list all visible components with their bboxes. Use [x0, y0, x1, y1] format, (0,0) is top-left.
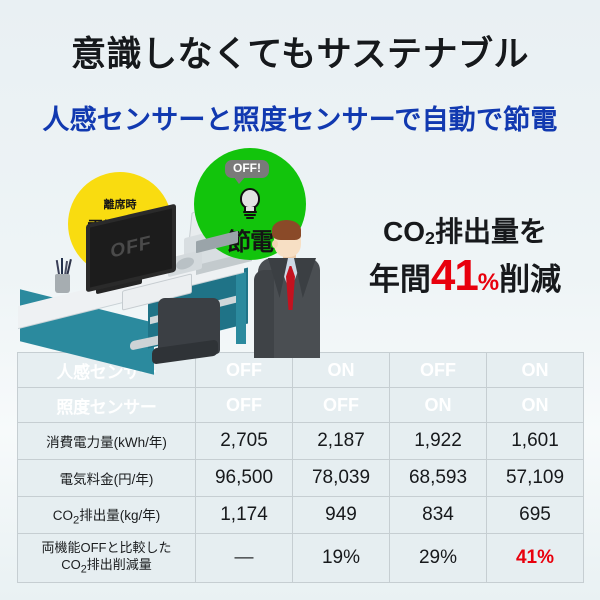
co2-callout-line2-post: 削減 — [499, 262, 561, 297]
cell-power-consumption-3: 1,922 — [390, 423, 487, 460]
infographic-page: 意識しなくてもサステナブル 人感センサーと照度センサーで自動で節電 CO2排出量… — [0, 0, 600, 600]
co2-callout-line2: 年間41%削減 — [340, 251, 590, 300]
row-label-illuminance-sensor: 照度センサー — [18, 388, 196, 423]
cell-electricity-cost-1: 96,500 — [196, 460, 293, 497]
cell-illuminance-sensor-2: OFF — [293, 388, 390, 423]
co2-callout-line1-post: 排出量を — [435, 216, 547, 247]
cell-co2-reduction-2: 19% — [293, 534, 390, 583]
co2-callout: CO2排出量を 年間41%削減 — [340, 216, 590, 301]
cell-co2-reduction-4: 41% — [487, 534, 584, 583]
cell-co2-emissions-1: 1,174 — [196, 497, 293, 534]
desk-leg — [236, 272, 246, 344]
co2-callout-percent-sign: % — [478, 269, 499, 296]
row-label-co2-reduction: 両機能OFFと比較した CO2排出削減量 — [18, 534, 196, 583]
cell-co2-emissions-3: 834 — [390, 497, 487, 534]
office-illustration: OFF 離席時 電源オフ OFF! — [0, 130, 360, 358]
cell-co2-reduction-1: — — [196, 534, 293, 583]
cell-illuminance-sensor-3: ON — [390, 388, 487, 423]
lightbulb-icon — [238, 188, 262, 221]
co2-callout-number: 41 — [431, 251, 478, 300]
cell-electricity-cost-2: 78,039 — [293, 460, 390, 497]
table-row-co2-reduction: 両機能OFFと比較した CO2排出削減量 — 19% 29% 41% — [18, 534, 584, 583]
person-arm — [254, 270, 274, 358]
co2-callout-line1-pre: CO — [383, 216, 425, 247]
cell-co2-emissions-2: 949 — [293, 497, 390, 534]
monitor-screen-text: OFF — [90, 228, 172, 269]
cell-power-consumption-4: 1,601 — [487, 423, 584, 460]
row-label-co2-emissions-pre: CO — [53, 508, 73, 523]
row-label-co2-emissions-post: 排出量(kg/年) — [79, 508, 160, 523]
row-label-co2-reduction-line1: 両機能OFFと比較した — [42, 540, 172, 555]
page-title: 意識しなくてもサステナブル — [0, 26, 600, 77]
cell-co2-emissions-4: 695 — [487, 497, 584, 534]
row-label-power-consumption: 消費電力量(kWh/年) — [18, 423, 196, 460]
table-row-co2-emissions: CO2排出量(kg/年) 1,174 949 834 695 — [18, 497, 584, 534]
cell-human-sensor-3: OFF — [390, 353, 487, 388]
row-label-electricity-cost: 電気料金(円/年) — [18, 460, 196, 497]
table-row-electricity-cost: 電気料金(円/年) 96,500 78,039 68,593 57,109 — [18, 460, 584, 497]
co2-callout-line1-subscript: 2 — [425, 228, 435, 248]
person-hair — [272, 220, 301, 240]
row-label-co2-reduction-pre: CO — [61, 557, 81, 572]
co2-callout-line2-pre: 年間 — [369, 262, 431, 297]
cell-illuminance-sensor-4: ON — [487, 388, 584, 423]
cell-electricity-cost-4: 57,109 — [487, 460, 584, 497]
cell-illuminance-sensor-1: OFF — [196, 388, 293, 423]
comparison-table: 人感センサー OFF ON OFF ON 照度センサー OFF OFF ON O… — [17, 352, 584, 583]
cell-power-consumption-1: 2,705 — [196, 423, 293, 460]
cell-electricity-cost-3: 68,593 — [390, 460, 487, 497]
off-speech-bubble: OFF! — [225, 160, 269, 178]
cell-co2-reduction-3: 29% — [390, 534, 487, 583]
cell-power-consumption-2: 2,187 — [293, 423, 390, 460]
table-row-illuminance-sensor: 照度センサー OFF OFF ON ON — [18, 388, 584, 423]
co2-callout-line1: CO2排出量を — [340, 216, 590, 248]
pen-cup-icon — [55, 274, 70, 293]
table-row-power-consumption: 消費電力量(kWh/年) 2,705 2,187 1,922 1,601 — [18, 423, 584, 460]
person-ear — [272, 240, 278, 248]
cell-human-sensor-4: ON — [487, 353, 584, 388]
row-label-co2-emissions: CO2排出量(kg/年) — [18, 497, 196, 534]
row-label-co2-reduction-post: 排出削減量 — [87, 557, 152, 572]
